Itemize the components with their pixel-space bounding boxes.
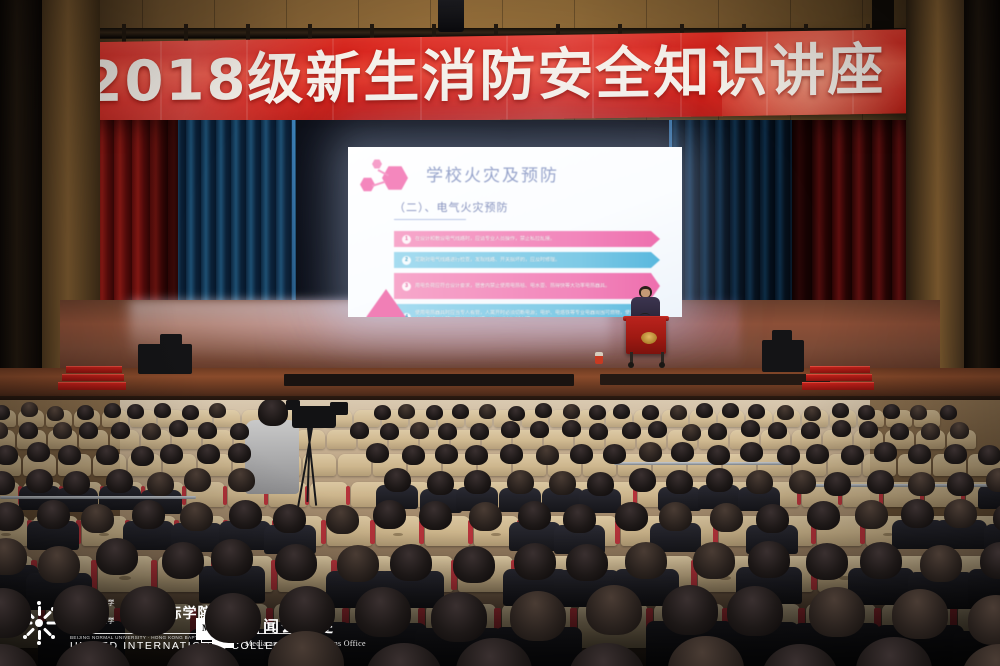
audience-head [890, 423, 909, 440]
stage-monitor-wedge-left [160, 334, 182, 346]
audience-head [518, 501, 551, 530]
audience-head [809, 587, 865, 637]
audience-head [402, 445, 425, 465]
speaker-face [641, 289, 650, 297]
audience-head [337, 545, 379, 582]
audience-head [832, 403, 849, 418]
slide-bullet-text: 定期对电气线路进行检查，发现线路、开关损坏的，应及时修理。 [415, 257, 660, 264]
audience-head [154, 403, 171, 418]
audience-head [96, 538, 138, 575]
triangle-decoration-icon [362, 289, 410, 317]
audience-head [184, 468, 211, 492]
audience-head [453, 546, 495, 583]
audience-head [228, 443, 251, 463]
audience-head [410, 422, 429, 439]
stage-monitor-wedge-right [772, 330, 792, 342]
audience-head [671, 442, 694, 462]
audience-head [131, 446, 154, 466]
slide-subtitle: （二）、电气火灾预防 [394, 199, 509, 215]
audience-head [740, 442, 763, 462]
audience-head [824, 472, 851, 496]
stage-step-right-3 [802, 382, 874, 390]
audience-head [58, 445, 81, 465]
audience-head [279, 586, 335, 636]
slide-bullet-number: 1 [402, 235, 411, 244]
audience-head [659, 502, 692, 531]
slide-bullet-number: 2 [402, 256, 411, 265]
audience-head [777, 405, 794, 420]
audience-head [746, 470, 773, 494]
apron-recess-right [600, 374, 830, 385]
audience-head [508, 406, 525, 421]
wall-pilaster-right [964, 0, 1000, 420]
stage-step-left-1 [66, 366, 122, 373]
audience-head [908, 444, 931, 464]
audience-head [142, 423, 161, 440]
audience-head [26, 469, 53, 493]
audience-head [789, 470, 816, 494]
fire-extinguisher-icon [595, 352, 603, 364]
ceiling-speaker-icon [438, 0, 464, 32]
audience-head [806, 444, 829, 464]
audience-head [160, 444, 183, 464]
audience-head [682, 424, 701, 441]
audience-head [693, 542, 735, 579]
audience-head [398, 404, 415, 419]
audience-head [570, 444, 593, 464]
audience-head [47, 406, 64, 421]
audience-head [536, 445, 559, 465]
audience-head [169, 420, 188, 437]
audience-head [211, 539, 253, 576]
audience-head [615, 502, 648, 531]
audience-head [366, 443, 389, 463]
audience-head [586, 585, 642, 635]
audience-head [0, 445, 18, 465]
audience-head [205, 593, 261, 643]
molecule-decoration-icon [358, 159, 418, 201]
slide-bullet: 2定期对电气线路进行检查，发现线路、开关损坏的，应及时修理。 [394, 252, 660, 268]
stage-step-left-2 [62, 374, 124, 381]
audience-head [587, 472, 614, 496]
audience-head [438, 423, 457, 440]
audience-head [38, 546, 80, 583]
audience-head [944, 499, 977, 528]
slide-bullet: 1在设计和敷设电气线路时，应请专业人员操作，禁止私拉乱接。 [394, 231, 660, 247]
audience-head [104, 403, 121, 418]
audience-head [707, 445, 730, 465]
audience-head [804, 406, 821, 421]
audience-head [501, 421, 520, 438]
audience-head [427, 471, 454, 495]
audience-head [756, 504, 789, 533]
audience-head [465, 445, 488, 465]
audience-head [741, 420, 760, 437]
stage-step-right-2 [806, 374, 872, 381]
audience-head [670, 405, 687, 420]
camera-lens-hood [330, 402, 348, 415]
audience-head [642, 405, 659, 420]
camera-viewfinder [286, 400, 300, 410]
audience-head [500, 444, 523, 464]
audience-head [978, 445, 1000, 465]
audience-head [106, 469, 133, 493]
audience-head [910, 405, 927, 420]
audience-head [470, 423, 489, 440]
audience-head [832, 420, 851, 437]
audience-head [892, 589, 948, 639]
audience-head [920, 545, 962, 582]
audience-head [883, 404, 900, 419]
audience-head [859, 421, 878, 438]
audience-head [180, 502, 213, 531]
audience-head [855, 500, 888, 529]
audience-head [19, 422, 38, 439]
audience-head [384, 468, 411, 492]
audience-head [806, 543, 848, 580]
audience-head [27, 442, 50, 462]
audience-head [622, 422, 641, 439]
audience-head [79, 422, 98, 439]
audience-head [666, 470, 693, 494]
audience-head [777, 445, 800, 465]
audience-head [727, 586, 783, 636]
slide-divider [394, 219, 466, 220]
audience-head [921, 423, 940, 440]
audience-head [127, 404, 144, 419]
audience-head [77, 405, 94, 420]
audience-head [858, 405, 875, 420]
audience-head [380, 423, 399, 440]
audience-head [662, 585, 718, 635]
audience-head [748, 541, 790, 578]
audience-head [120, 586, 176, 636]
aisle-rail-center [614, 462, 794, 465]
audience-head [706, 468, 733, 492]
audience-head [947, 472, 974, 496]
audience-head [374, 405, 391, 420]
audience-head [535, 403, 552, 418]
audience-head [940, 405, 957, 420]
audience-head [748, 404, 765, 419]
audience-head [53, 422, 72, 439]
audience-head [603, 444, 626, 464]
seat-armrest [346, 486, 350, 505]
audience-head [452, 404, 469, 419]
slide-bullet-text: 在设计和敷设电气线路时，应请专业人员操作，禁止私拉乱接。 [415, 236, 660, 243]
audience-head [629, 468, 656, 492]
audience-head [563, 404, 580, 419]
audience-head [507, 470, 534, 494]
audience-head [37, 500, 70, 529]
stage-monitor-speaker-right [762, 340, 804, 372]
audience-head [562, 420, 581, 437]
camera-operator-head [258, 400, 288, 426]
audience-head [350, 422, 369, 439]
audience-head [197, 444, 220, 464]
audience-head [867, 470, 894, 494]
audience-head [111, 422, 130, 439]
auditorium-seating-area [0, 400, 1000, 666]
aisle-rail-left [0, 496, 196, 499]
audience-head [162, 542, 204, 579]
audience-head [549, 471, 576, 495]
audience-head [722, 403, 739, 418]
audience-head [768, 422, 787, 439]
podium [626, 318, 666, 354]
audience-head [21, 402, 38, 417]
audience-head [710, 503, 743, 532]
audience-head [589, 405, 606, 420]
audience-head [566, 544, 608, 581]
audience-head [132, 500, 165, 529]
audience-head [435, 444, 458, 464]
stage-monitor-speaker-left [138, 344, 192, 374]
audience-head [431, 592, 487, 642]
audience-head [860, 542, 902, 579]
audience-head [326, 505, 359, 534]
audience-head [390, 544, 432, 581]
audience-head [275, 544, 317, 581]
audience-head [147, 472, 174, 496]
audience-head [182, 405, 199, 420]
audience-head [426, 405, 443, 420]
audience-head [209, 403, 226, 418]
audience-head [901, 499, 934, 528]
audience-head [273, 504, 306, 533]
audience-head [589, 423, 608, 440]
audience-head [874, 442, 897, 462]
apron-recess-left [284, 374, 574, 386]
audience-head [510, 591, 566, 641]
audience-head [944, 444, 967, 464]
audience-head [639, 442, 662, 462]
audience-head [419, 501, 452, 530]
audience-head [563, 504, 596, 533]
audience-head [625, 542, 667, 579]
audience-head [198, 422, 217, 439]
audience-head [230, 423, 249, 440]
audience-head [801, 422, 820, 439]
slide-title: 学校火灾及预防 [426, 161, 559, 186]
audience-head [96, 445, 119, 465]
event-banner: 2018级新生消防安全知识讲座 [32, 29, 937, 127]
podium-area [618, 286, 676, 368]
audience-head [229, 500, 262, 529]
audience-head [355, 587, 411, 637]
audience-head [708, 423, 727, 440]
audience-head [373, 500, 406, 529]
audience-head [81, 504, 114, 533]
microphone-icon [640, 313, 650, 318]
audience-head [841, 445, 864, 465]
audience-head [696, 403, 713, 418]
audience-head [53, 585, 109, 635]
audience-head [950, 422, 969, 439]
auditorium-photo: 2018级新生消防安全知识讲座 学校火灾及预防 （二）、电气火灾预防 1在设计和… [0, 0, 1000, 666]
audience-head [530, 421, 549, 438]
audience-head [469, 502, 502, 531]
audience-head [464, 470, 491, 494]
stage-step-left-3 [58, 382, 126, 390]
audience-head [908, 472, 935, 496]
audience-head [613, 404, 630, 419]
audience-head [648, 421, 667, 438]
wall-pilaster-left [0, 0, 42, 420]
audience-head [228, 468, 255, 492]
audience-head [479, 404, 496, 419]
audience-head [63, 471, 90, 495]
podium-emblem-icon [641, 332, 657, 344]
audience-head [807, 501, 840, 530]
stage-step-right-1 [810, 366, 870, 373]
audience-head [514, 543, 556, 580]
